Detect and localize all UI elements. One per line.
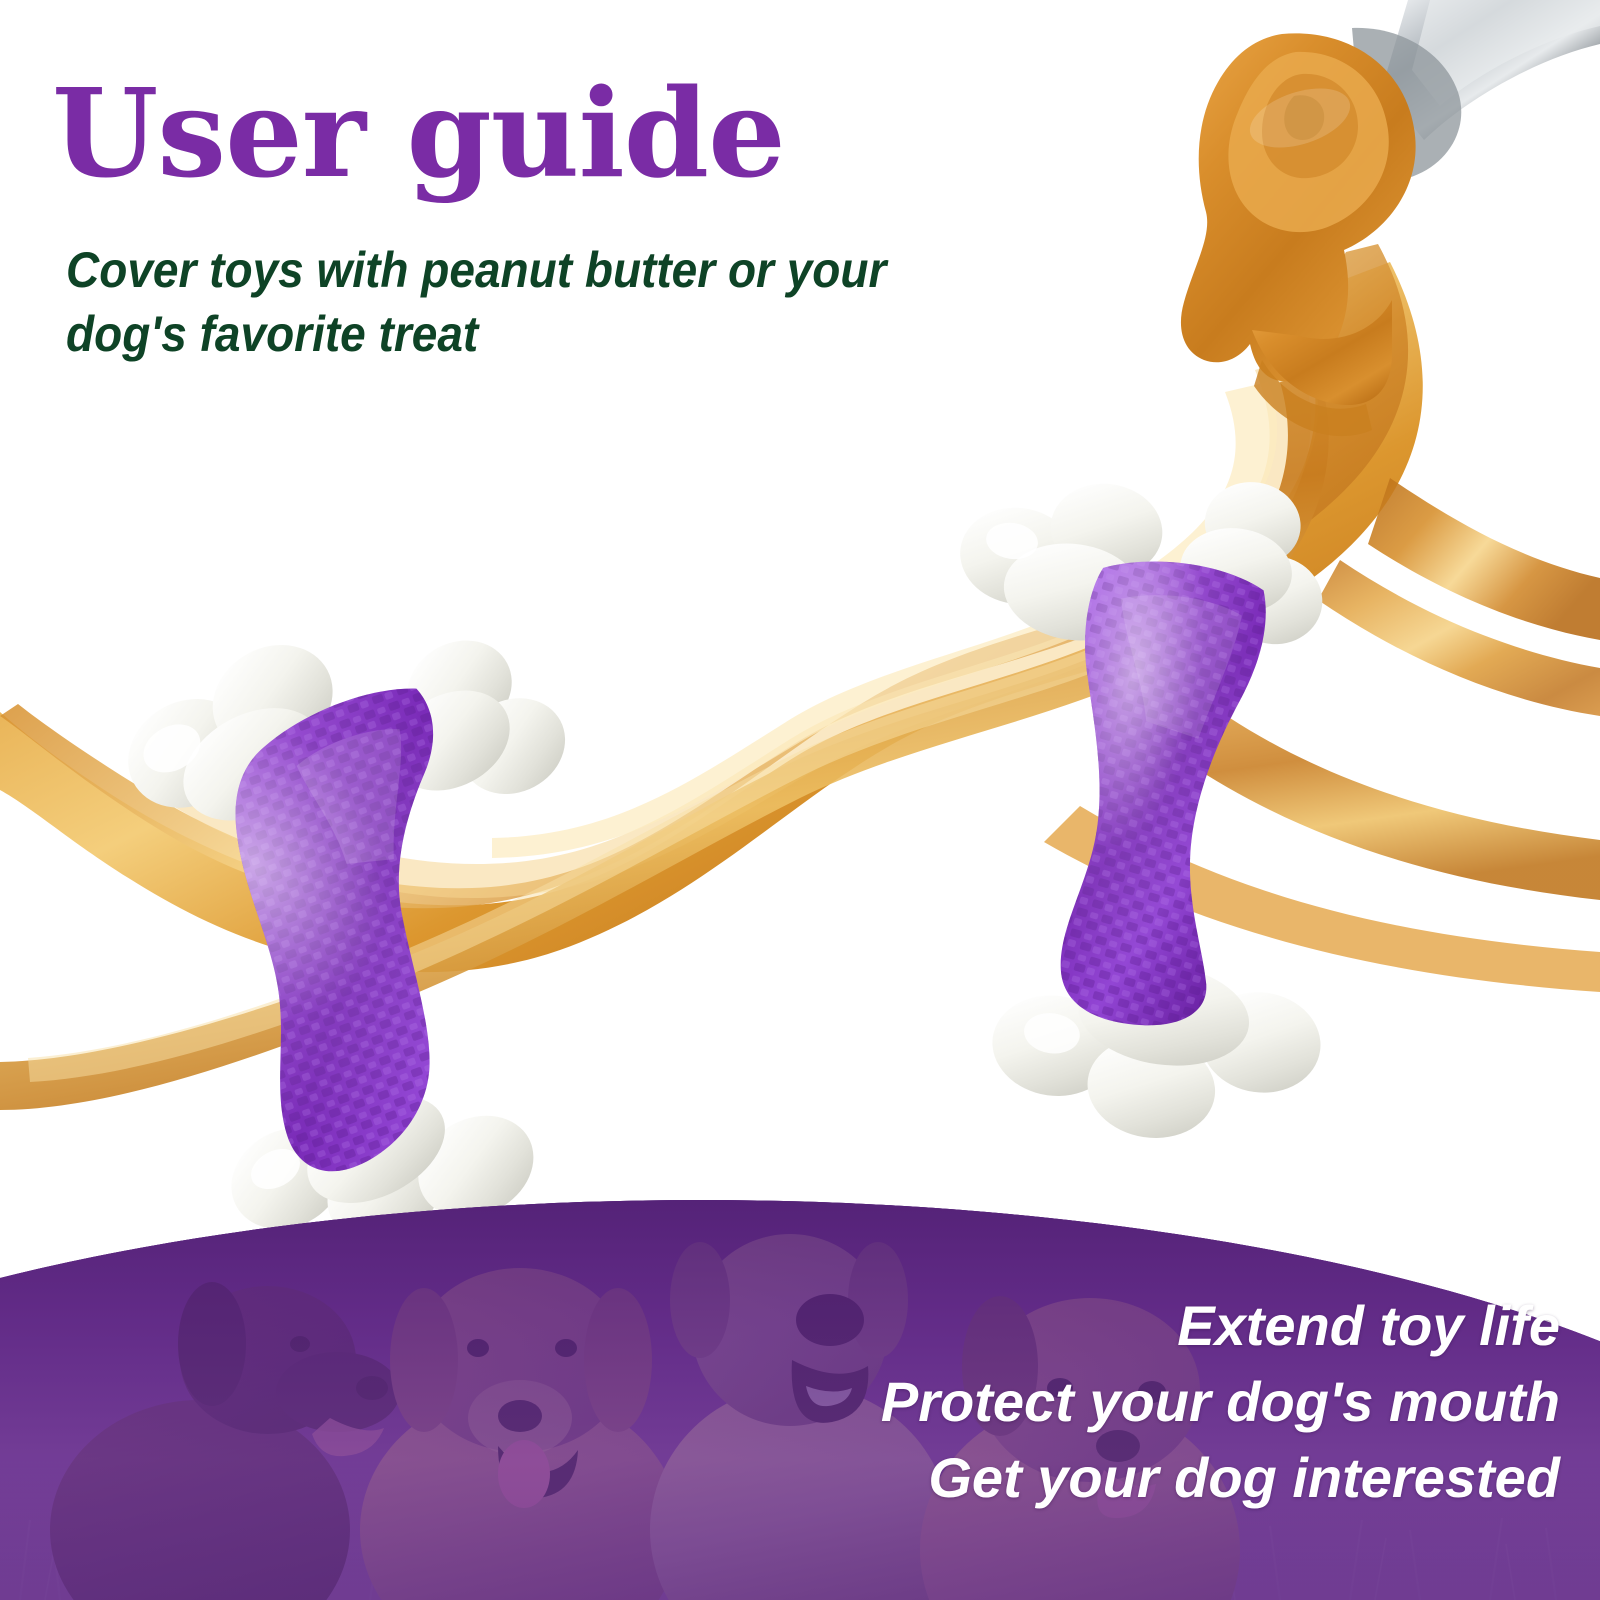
page-title: User guide: [52, 72, 785, 194]
user-guide-poster: User guide Cover toys with peanut butter…: [0, 0, 1600, 1600]
benefit-item-2: Protect your dog's mouth: [460, 1364, 1560, 1440]
dog-bone-toy-right: [883, 443, 1397, 1160]
peanut-butter-dollop: [1181, 33, 1416, 436]
benefit-item-1: Extend toy life: [460, 1288, 1560, 1364]
benefit-item-3: Get your dog interested: [460, 1440, 1560, 1516]
page-subtitle: Cover toys with peanut butter or your do…: [66, 238, 912, 366]
benefits-list: Extend toy life Protect your dog's mouth…: [460, 1288, 1560, 1516]
peanut-butter-swirl: [0, 244, 1600, 1110]
spoon-icon: [1352, 0, 1600, 178]
